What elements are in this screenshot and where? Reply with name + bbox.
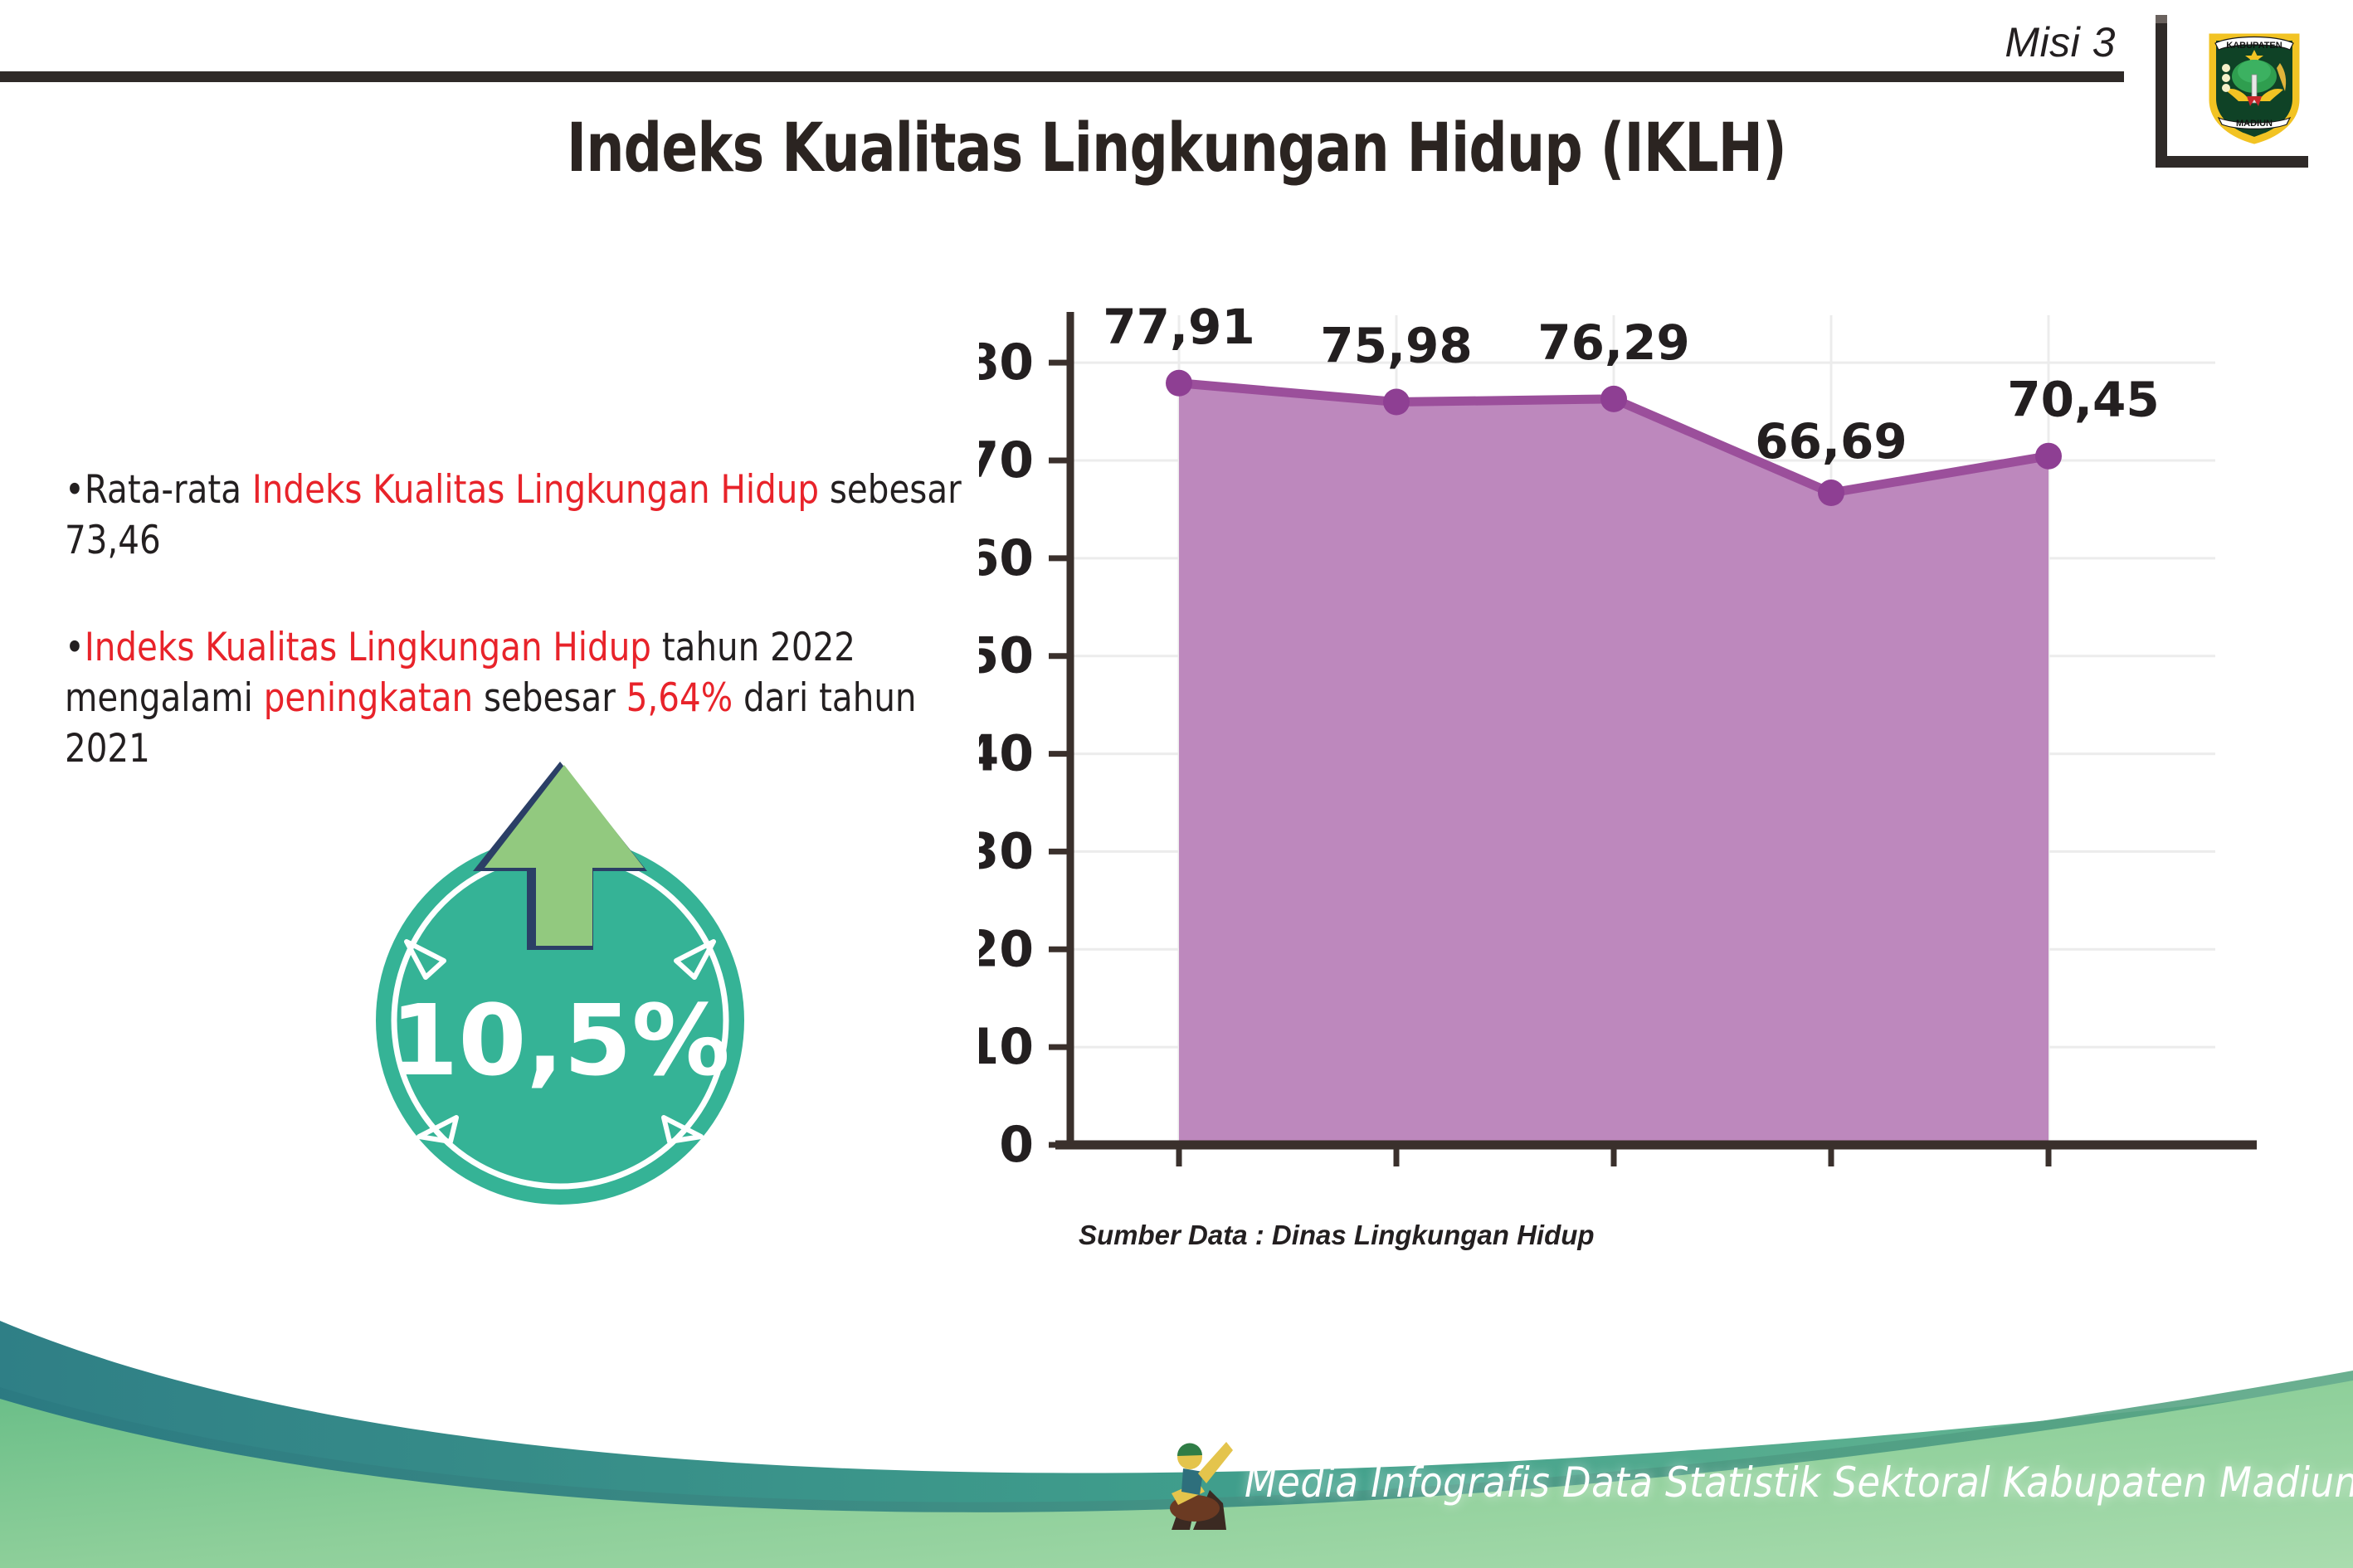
y-axis-tick-label: 10 (979, 1018, 1034, 1076)
y-axis-tick-label: 0 (999, 1116, 1034, 1174)
bullet-marker: • (65, 625, 85, 670)
bullet-highlight: Indeks Kualitas Lingkungan Hidup (85, 625, 651, 670)
infographic-slide: Misi 3 KABUPATEN MADIUN Indeks Kualitas … (0, 0, 2353, 1568)
footer-caption: Media Infografis Data Statistik Sektoral… (1245, 1458, 2353, 1507)
y-axis-tick-label: 80 (979, 334, 1034, 392)
crest-top-text: KABUPATEN (2226, 41, 2282, 51)
page-title: Indeks Kualitas Lingkungan Hidup (IKLH) (236, 110, 2118, 187)
data-point-marker (2035, 443, 2062, 470)
data-point-marker (1600, 386, 1627, 412)
kabupaten-madiun-crest-icon: KABUPATEN MADIUN (2200, 20, 2308, 144)
y-axis-tick-label: 60 (979, 529, 1034, 587)
misi-label: Misi 3 (2005, 18, 2116, 66)
y-axis-tick-label: 40 (979, 725, 1034, 783)
bullet-text-part1: Rata-rata (85, 467, 252, 513)
y-axis-tick-label: 30 (979, 822, 1034, 880)
dancer-logo-icon (1147, 1432, 1246, 1540)
bullet-highlight: peningkatan (264, 675, 473, 721)
x-axis-tick-label: 2019 (1313, 1176, 1479, 1178)
data-point-marker (1383, 389, 1410, 416)
increase-badge: 10,5% (328, 747, 792, 1211)
x-axis-tick-label: 2018 (1096, 1176, 1262, 1178)
data-label: 77,91 (1103, 299, 1254, 355)
x-axis-tick-label: 2022 (1966, 1176, 2131, 1178)
data-label: 75,98 (1320, 318, 1472, 374)
bullet-text-part2: sebesar (473, 675, 626, 721)
x-axis-tick-label: 2021 (1748, 1176, 1914, 1178)
source-note: Sumber Data : Dinas Lingkungan Hidup (1079, 1220, 1908, 1251)
data-label: 66,69 (1755, 413, 1907, 470)
badge-value: 10,5% (390, 983, 729, 1098)
header-divider (0, 71, 2124, 82)
bullet-highlight: Indeks Kualitas Lingkungan Hidup (252, 467, 819, 513)
y-axis-tick-label: 50 (979, 627, 1034, 685)
y-axis-tick-label: 20 (979, 920, 1034, 978)
data-point-marker (1818, 480, 1844, 506)
iklh-area-chart: 77,9175,9876,2966,6970,45010203040506070… (979, 299, 2273, 1178)
bullet-marker: • (65, 467, 85, 513)
data-point-marker (1166, 370, 1192, 397)
data-label: 76,29 (1537, 314, 1689, 371)
bullet-highlight: 5,64% (626, 675, 733, 721)
bullet-item: •Rata-rata Indeks Kualitas Lingkungan Hi… (65, 465, 971, 566)
x-axis-tick-label: 2020 (1531, 1176, 1697, 1178)
summary-bullets: •Rata-rata Indeks Kualitas Lingkungan Hi… (65, 465, 969, 774)
y-axis-tick-label: 70 (979, 431, 1034, 489)
chart-area-fill (1179, 383, 2049, 1145)
crest-bottom-text: MADIUN (2236, 119, 2273, 129)
data-label: 70,45 (2007, 372, 2159, 428)
